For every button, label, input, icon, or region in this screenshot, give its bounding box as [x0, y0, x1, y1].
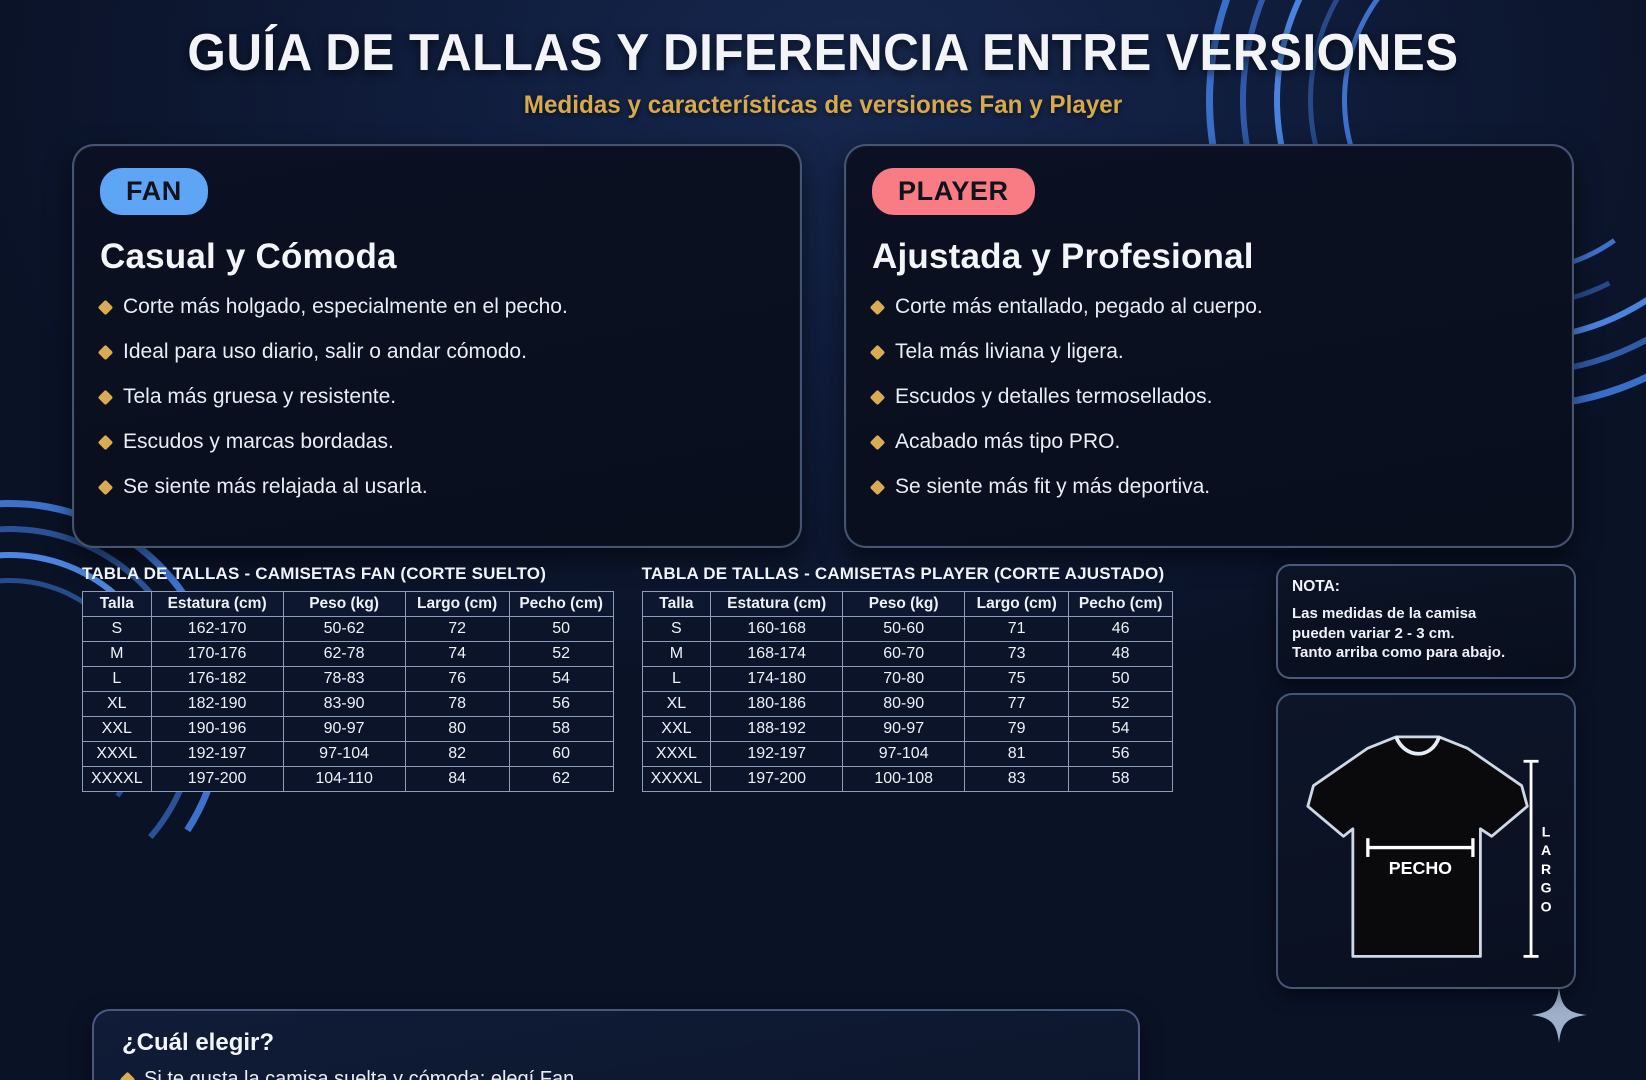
note-line: Las medidas de la camisa	[1292, 604, 1560, 624]
cell-talla: XL	[83, 692, 152, 717]
fan-feature-list: Corte más holgado, especialmente en el p…	[100, 295, 774, 500]
header: GUÍA DE TALLAS Y DIFERENCIA ENTRE VERSIO…	[0, 0, 1646, 120]
cell-largo: 79	[965, 717, 1069, 742]
feature-text: Escudos y detalles termosellados.	[895, 385, 1213, 409]
table-row: XXXL 192-197 97-104 81 56	[642, 742, 1173, 767]
svg-text:G: G	[1541, 879, 1552, 895]
list-item: Acabado más tipo PRO.	[872, 430, 1546, 454]
cell-talla: L	[83, 667, 152, 692]
cell-estatura: 162-170	[151, 617, 283, 642]
player-badge: PLAYER	[872, 168, 1035, 215]
bullet-diamond-icon	[98, 480, 114, 496]
version-cards: FAN Casual y Cómoda Corte más holgado, e…	[0, 120, 1646, 549]
cell-peso: 60-70	[843, 642, 965, 667]
list-item: Si te gusta la camisa suelta y cómoda: e…	[122, 1067, 1114, 1080]
column-header-talla: Talla	[83, 592, 152, 617]
cell-estatura: 188-192	[711, 717, 843, 742]
cell-pecho: 60	[509, 742, 613, 767]
cell-largo: 77	[965, 692, 1069, 717]
infographic-root: GUÍA DE TALLAS Y DIFERENCIA ENTRE VERSIO…	[0, 0, 1646, 1080]
column-header-pecho: Pecho (cm)	[1069, 592, 1173, 617]
cell-pecho: 48	[1069, 642, 1173, 667]
cell-peso: 83-90	[283, 692, 405, 717]
cell-talla: XXXL	[83, 742, 152, 767]
note-line: pueden variar 2 - 3 cm.	[1292, 624, 1560, 644]
cell-pecho: 56	[509, 692, 613, 717]
cell-largo: 73	[965, 642, 1069, 667]
cell-peso: 90-97	[283, 717, 405, 742]
cell-talla: XXXL	[642, 742, 711, 767]
bullet-diamond-icon	[870, 390, 886, 406]
cell-largo: 75	[965, 667, 1069, 692]
column-header-largo: Largo (cm)	[965, 592, 1069, 617]
cell-estatura: 180-186	[711, 692, 843, 717]
player-version-card: PLAYER Ajustada y Profesional Corte más …	[844, 144, 1574, 549]
tshirt-icon: PECHO L A R G O	[1288, 705, 1564, 977]
table-row: XXXL 192-197 97-104 82 60	[83, 742, 614, 767]
cell-pecho: 54	[1069, 717, 1173, 742]
cell-estatura: 170-176	[151, 642, 283, 667]
svg-text:R: R	[1541, 861, 1551, 877]
cell-largo: 76	[405, 667, 509, 692]
bullet-diamond-icon	[98, 299, 114, 315]
cell-largo: 83	[965, 767, 1069, 792]
bullet-diamond-icon	[98, 435, 114, 451]
choose-section: ¿Cuál elegir? Si te gusta la camisa suel…	[0, 989, 1646, 1080]
bullet-diamond-icon	[98, 390, 114, 406]
bullet-diamond-icon	[870, 344, 886, 360]
player-feature-list: Corte más entallado, pegado al cuerpo. T…	[872, 295, 1546, 500]
cell-pecho: 62	[509, 767, 613, 792]
list-item: Corte más holgado, especialmente en el p…	[100, 295, 774, 319]
cell-peso: 90-97	[843, 717, 965, 742]
fan-version-card: FAN Casual y Cómoda Corte más holgado, e…	[72, 144, 802, 549]
cell-peso: 78-83	[283, 667, 405, 692]
list-item: Tela más liviana y ligera.	[872, 340, 1546, 364]
cell-pecho: 58	[1069, 767, 1173, 792]
cell-largo: 78	[405, 692, 509, 717]
column-header-peso: Peso (kg)	[283, 592, 405, 617]
cell-pecho: 54	[509, 667, 613, 692]
cell-talla: XL	[642, 692, 711, 717]
player-size-table: Talla Estatura (cm) Peso (kg) Largo (cm)…	[642, 591, 1174, 792]
svg-text:O: O	[1541, 898, 1552, 914]
cell-largo: 84	[405, 767, 509, 792]
cell-estatura: 190-196	[151, 717, 283, 742]
bullet-diamond-icon	[870, 480, 886, 496]
table-header-row: Talla Estatura (cm) Peso (kg) Largo (cm)…	[83, 592, 614, 617]
feature-text: Tela más liviana y ligera.	[895, 340, 1124, 364]
table-row: S 160-168 50-60 71 46	[642, 617, 1173, 642]
table-row: XXXXL 197-200 104-110 84 62	[83, 767, 614, 792]
note-title: NOTA:	[1292, 578, 1560, 596]
choose-box: ¿Cuál elegir? Si te gusta la camisa suel…	[92, 1009, 1140, 1080]
feature-text: Escudos y marcas bordadas.	[123, 430, 394, 454]
table-row: L 176-182 78-83 76 54	[83, 667, 614, 692]
cell-pecho: 50	[509, 617, 613, 642]
chest-label: PECHO	[1389, 858, 1452, 878]
column-header-pecho: Pecho (cm)	[509, 592, 613, 617]
cell-peso: 97-104	[843, 742, 965, 767]
choose-text: Si te gusta la camisa suelta y cómoda: e…	[144, 1067, 580, 1080]
feature-text: Se siente más relajada al usarla.	[123, 475, 428, 499]
cell-largo: 74	[405, 642, 509, 667]
table-row: XL 182-190 83-90 78 56	[83, 692, 614, 717]
player-size-table-block: TABLA DE TALLAS - CAMISETAS PLAYER (CORT…	[642, 564, 1174, 792]
cell-talla: M	[642, 642, 711, 667]
cell-estatura: 182-190	[151, 692, 283, 717]
cell-largo: 82	[405, 742, 509, 767]
cell-largo: 81	[965, 742, 1069, 767]
cell-pecho: 46	[1069, 617, 1173, 642]
cell-estatura: 160-168	[711, 617, 843, 642]
column-header-estatura: Estatura (cm)	[711, 592, 843, 617]
fan-badge: FAN	[100, 168, 208, 215]
list-item: Se siente más fit y más deportiva.	[872, 475, 1546, 499]
column-header-talla: Talla	[642, 592, 711, 617]
note-line: Tanto arriba como para abajo.	[1292, 643, 1560, 663]
choose-list: Si te gusta la camisa suelta y cómoda: e…	[122, 1067, 1114, 1080]
feature-text: Acabado más tipo PRO.	[895, 430, 1120, 454]
feature-text: Corte más holgado, especialmente en el p…	[123, 295, 568, 319]
player-card-heading: Ajustada y Profesional	[872, 237, 1546, 277]
bullet-diamond-icon	[870, 435, 886, 451]
size-tables-row: TABLA DE TALLAS - CAMISETAS FAN (CORTE S…	[0, 548, 1646, 989]
cell-largo: 72	[405, 617, 509, 642]
feature-text: Se siente más fit y más deportiva.	[895, 475, 1210, 499]
feature-text: Corte más entallado, pegado al cuerpo.	[895, 295, 1263, 319]
table-row: M 168-174 60-70 73 48	[642, 642, 1173, 667]
cell-peso: 104-110	[283, 767, 405, 792]
bullet-diamond-icon	[870, 299, 886, 315]
page-title: GUÍA DE TALLAS Y DIFERENCIA ENTRE VERSIO…	[41, 26, 1605, 81]
table-row: M 170-176 62-78 74 52	[83, 642, 614, 667]
fan-size-table-block: TABLA DE TALLAS - CAMISETAS FAN (CORTE S…	[82, 564, 614, 792]
choose-title: ¿Cuál elegir?	[122, 1029, 1114, 1057]
column-header-largo: Largo (cm)	[405, 592, 509, 617]
cell-peso: 50-62	[283, 617, 405, 642]
length-label: L	[1542, 823, 1551, 839]
cell-peso: 80-90	[843, 692, 965, 717]
length-measure-arrow	[1524, 761, 1539, 956]
fan-size-table: Talla Estatura (cm) Peso (kg) Largo (cm)…	[82, 591, 614, 792]
page-subtitle: Medidas y características de versiones F…	[25, 91, 1622, 120]
shirt-measurement-diagram: PECHO L A R G O	[1276, 693, 1576, 989]
feature-text: Ideal para uso diario, salir o andar cóm…	[123, 340, 527, 364]
list-item: Se siente más relajada al usarla.	[100, 475, 774, 499]
cell-peso: 62-78	[283, 642, 405, 667]
table-header-row: Talla Estatura (cm) Peso (kg) Largo (cm)…	[642, 592, 1173, 617]
list-item: Tela más gruesa y resistente.	[100, 385, 774, 409]
cell-talla: S	[83, 617, 152, 642]
cell-pecho: 50	[1069, 667, 1173, 692]
table-row: XXL 190-196 90-97 80 58	[83, 717, 614, 742]
cell-talla: S	[642, 617, 711, 642]
note-box: NOTA: Las medidas de la camisa pueden va…	[1276, 564, 1576, 679]
cell-estatura: 176-182	[151, 667, 283, 692]
cell-talla: XXXXL	[642, 767, 711, 792]
cell-peso: 97-104	[283, 742, 405, 767]
cell-estatura: 174-180	[711, 667, 843, 692]
cell-pecho: 56	[1069, 742, 1173, 767]
cell-talla: XXL	[83, 717, 152, 742]
bullet-diamond-icon	[98, 344, 114, 360]
bullet-diamond-icon	[120, 1072, 136, 1080]
list-item: Ideal para uso diario, salir o andar cóm…	[100, 340, 774, 364]
cell-estatura: 192-197	[711, 742, 843, 767]
cell-estatura: 197-200	[711, 767, 843, 792]
player-table-title: TABLA DE TALLAS - CAMISETAS PLAYER (CORT…	[642, 564, 1174, 584]
cell-estatura: 197-200	[151, 767, 283, 792]
svg-text:A: A	[1541, 842, 1551, 858]
feature-text: Tela más gruesa y resistente.	[123, 385, 396, 409]
cell-estatura: 192-197	[151, 742, 283, 767]
list-item: Escudos y detalles termosellados.	[872, 385, 1546, 409]
column-header-estatura: Estatura (cm)	[151, 592, 283, 617]
fan-card-heading: Casual y Cómoda	[100, 237, 774, 277]
table-row: XXXXL 197-200 100-108 83 58	[642, 767, 1173, 792]
cell-pecho: 52	[1069, 692, 1173, 717]
right-column: NOTA: Las medidas de la camisa pueden va…	[1276, 564, 1576, 989]
cell-largo: 71	[965, 617, 1069, 642]
cell-talla: XXL	[642, 717, 711, 742]
column-header-peso: Peso (kg)	[843, 592, 965, 617]
table-row: L 174-180 70-80 75 50	[642, 667, 1173, 692]
cell-peso: 70-80	[843, 667, 965, 692]
cell-pecho: 52	[509, 642, 613, 667]
cell-pecho: 58	[509, 717, 613, 742]
table-row: S 162-170 50-62 72 50	[83, 617, 614, 642]
cell-estatura: 168-174	[711, 642, 843, 667]
list-item: Escudos y marcas bordadas.	[100, 430, 774, 454]
table-row: XXL 188-192 90-97 79 54	[642, 717, 1173, 742]
cell-largo: 80	[405, 717, 509, 742]
table-row: XL 180-186 80-90 77 52	[642, 692, 1173, 717]
cell-talla: M	[83, 642, 152, 667]
cell-peso: 100-108	[843, 767, 965, 792]
list-item: Corte más entallado, pegado al cuerpo.	[872, 295, 1546, 319]
cell-talla: XXXXL	[83, 767, 152, 792]
fan-table-title: TABLA DE TALLAS - CAMISETAS FAN (CORTE S…	[82, 564, 614, 584]
cell-talla: L	[642, 667, 711, 692]
cell-peso: 50-60	[843, 617, 965, 642]
